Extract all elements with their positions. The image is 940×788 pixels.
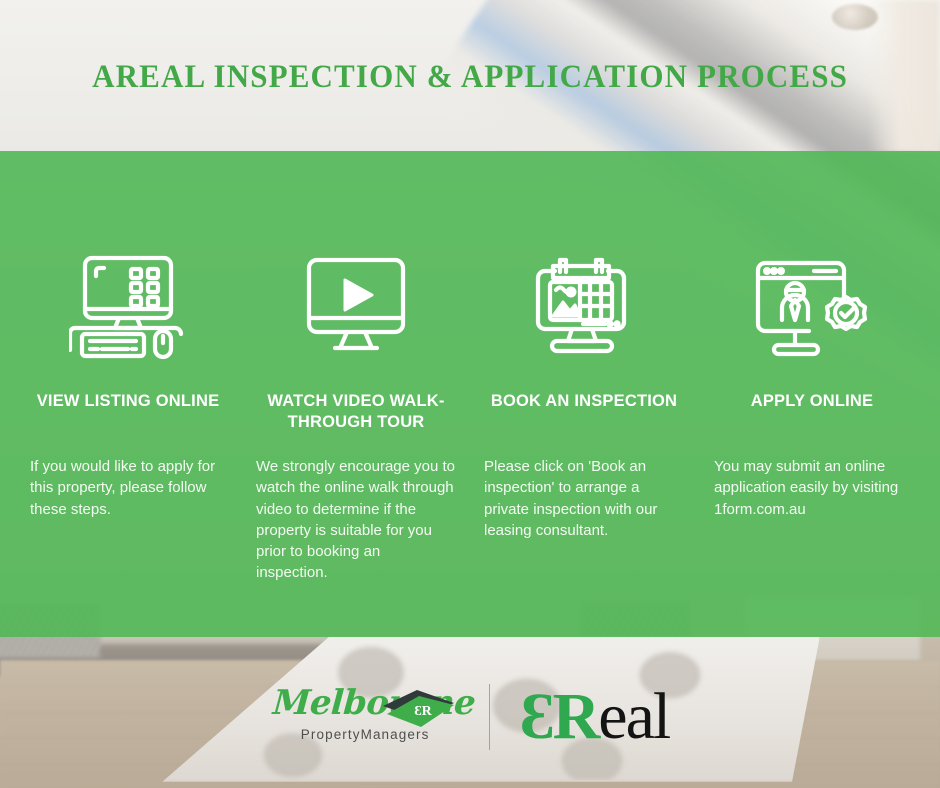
svg-text:ƐR: ƐR: [414, 704, 432, 719]
person-gear-monitor-icon: [748, 247, 876, 367]
step-body: You may submit an online application eas…: [712, 456, 912, 520]
areal-logo: ƐReal: [520, 684, 669, 750]
steps-grid: VIEW LISTING ONLINE If you would like to…: [0, 151, 940, 637]
step-body: Please click on 'Book an inspection' to …: [484, 456, 684, 541]
calendar-photo-monitor-icon: [524, 247, 644, 367]
step-heading: WATCH VIDEO WALK-THROUGH TOUR: [256, 391, 456, 435]
video-play-monitor-icon: [297, 247, 415, 367]
step-body: If you would like to apply for this prop…: [28, 456, 228, 520]
step-body: We strongly encourage you to watch the o…: [256, 456, 456, 584]
melbourne-subtitle: PropertyManagers: [301, 727, 430, 742]
step-heading: BOOK AN INSPECTION: [491, 391, 677, 435]
roof-monogram-icon: ƐR: [381, 689, 455, 731]
areal-logo-suffix: eal: [598, 684, 669, 750]
desktop-computer-icon: [69, 247, 187, 367]
page-title: AREAL INSPECTION & APPLICATION PROCESS: [92, 59, 848, 96]
footer-logos: Melbourne ƐR PropertyManagers ƐReal: [0, 668, 940, 766]
step-column-apply-online: APPLY ONLINE You may submit an online ap…: [698, 247, 926, 637]
step-heading: VIEW LISTING ONLINE: [37, 391, 220, 435]
infographic-poster: AREAL INSPECTION & APPLICATION PROCESS: [0, 0, 940, 788]
green-overlay-band: VIEW LISTING ONLINE If you would like to…: [0, 151, 940, 637]
areal-logo-prefix: ƐR: [520, 684, 599, 750]
step-column-view-listing: VIEW LISTING ONLINE If you would like to…: [14, 247, 242, 637]
header: AREAL INSPECTION & APPLICATION PROCESS: [0, 0, 940, 151]
step-column-book-inspection: BOOK AN INSPECTION Please click on 'Book…: [470, 247, 698, 637]
logo-divider: [489, 684, 490, 750]
step-column-watch-video: WATCH VIDEO WALK-THROUGH TOUR We strongl…: [242, 247, 470, 637]
step-heading: APPLY ONLINE: [751, 391, 874, 435]
melbourne-property-managers-logo: Melbourne ƐR PropertyManagers: [271, 679, 461, 755]
